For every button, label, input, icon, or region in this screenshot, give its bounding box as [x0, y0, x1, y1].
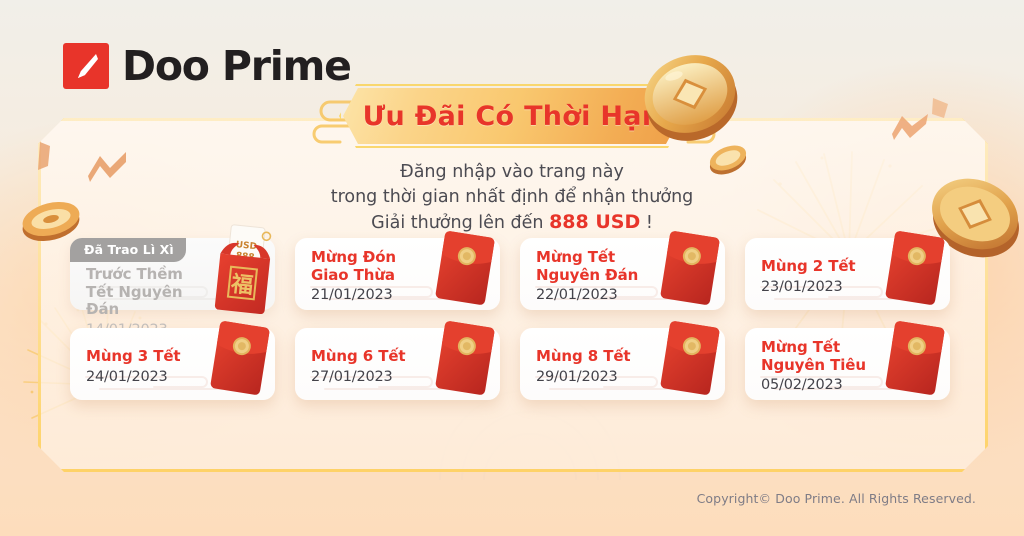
title-ribbon: Ưu Đãi Có Thời Hạn	[343, 88, 681, 144]
promo-card-title-line1: Mừng Tết	[761, 339, 886, 357]
promo-card-text: Mùng 3 Tết 24/01/2023	[86, 348, 211, 385]
promo-card[interactable]: Mùng 6 Tết 27/01/2023	[295, 328, 500, 400]
promo-card-row: Đã Trao Lì Xì Trước Thềm Tết Nguyên Đán …	[70, 238, 960, 310]
promo-card-date: 27/01/2023	[311, 369, 436, 385]
promo-card-title-line1: Mùng 6 Tết	[311, 348, 436, 366]
promo-banner: Doo Prime Ưu Đãi Có Thời Hạn	[0, 0, 1024, 536]
promo-card-title-line2: Giao Thừa	[311, 267, 436, 285]
promo-card-title-line1: Mùng 2 Tết	[761, 258, 886, 276]
promo-card-text: Mừng Đón Giao Thừa 21/01/2023	[311, 249, 436, 303]
promo-card[interactable]: Mừng Tết Nguyên Tiêu 05/02/2023	[745, 328, 950, 400]
brand-name: Doo Prime	[122, 42, 351, 90]
red-envelope-icon	[884, 318, 946, 398]
promo-card-claimed[interactable]: Đã Trao Lì Xì Trước Thềm Tết Nguyên Đán …	[70, 238, 275, 310]
promo-card[interactable]: Mùng 8 Tết 29/01/2023	[520, 328, 725, 400]
doo-prime-logo-mark	[63, 43, 109, 89]
promo-card-date: 24/01/2023	[86, 369, 211, 385]
promo-description: Đăng nhập vào trang này trong thời gian …	[0, 160, 1024, 236]
promo-card-title-line1: Mừng Đón	[311, 249, 436, 267]
red-envelope-icon	[434, 318, 496, 398]
promo-card-date: 22/01/2023	[536, 287, 661, 303]
promo-card[interactable]: Mừng Tết Nguyên Đán 22/01/2023	[520, 238, 725, 310]
page-title: Ưu Đãi Có Thời Hạn	[343, 88, 681, 144]
promo-card-date: 29/01/2023	[536, 369, 661, 385]
svg-text:福: 福	[229, 272, 255, 299]
promo-card-grid: Đã Trao Lì Xì Trước Thềm Tết Nguyên Đán …	[70, 238, 960, 400]
promo-card[interactable]: Mùng 2 Tết 23/01/2023	[745, 238, 950, 310]
red-envelope-icon	[434, 228, 496, 308]
copyright-text: Copyright© Doo Prime. All Rights Reserve…	[697, 491, 976, 506]
brand-logo[interactable]: Doo Prime	[63, 42, 351, 90]
promo-card-row: Mùng 3 Tết 24/01/2023	[70, 328, 960, 400]
promo-card-text: Mùng 6 Tết 27/01/2023	[311, 348, 436, 385]
prize-amount: 888 USD	[549, 211, 640, 233]
promo-card-date: 21/01/2023	[311, 287, 436, 303]
promo-card-title-line2: Nguyên Đán	[536, 267, 661, 285]
open-red-envelope-icon: USD 888 福	[207, 222, 279, 314]
promo-card-title-line1: Mừng Tết	[536, 249, 661, 267]
promo-card-text: Mừng Tết Nguyên Đán 22/01/2023	[536, 249, 661, 303]
promo-card-title-line2: Nguyên Tiêu	[761, 357, 886, 375]
promo-card-text: Trước Thềm Tết Nguyên Đán 14/01/2023	[86, 266, 211, 338]
description-line-2: trong thời gian nhất định để nhận thưởng	[0, 185, 1024, 210]
red-envelope-icon	[659, 318, 721, 398]
red-envelope-icon	[209, 318, 271, 398]
promo-card-date: 23/01/2023	[761, 279, 886, 295]
red-envelope-icon	[884, 228, 946, 308]
promo-card-text: Mùng 8 Tết 29/01/2023	[536, 348, 661, 385]
promo-card-title-line1: Trước Thềm	[86, 266, 211, 284]
description-line-3-suffix: !	[640, 213, 653, 233]
promo-card-text: Mùng 2 Tết 23/01/2023	[761, 258, 886, 295]
promo-card-text: Mừng Tết Nguyên Tiêu 05/02/2023	[761, 339, 886, 393]
red-envelope-icon	[659, 228, 721, 308]
promo-card-title-line1: Mùng 8 Tết	[536, 348, 661, 366]
status-badge: Đã Trao Lì Xì	[70, 238, 186, 262]
description-line-1: Đăng nhập vào trang này	[0, 160, 1024, 185]
promo-card-title-line1: Mùng 3 Tết	[86, 348, 211, 366]
promo-card-date: 05/02/2023	[761, 377, 886, 393]
promo-card[interactable]: Mừng Đón Giao Thừa 21/01/2023	[295, 238, 500, 310]
promo-card-title-line2: Tết Nguyên Đán	[86, 284, 211, 319]
description-line-3: Giải thưởng lên đến 888 USD !	[0, 210, 1024, 236]
promo-card[interactable]: Mùng 3 Tết 24/01/2023	[70, 328, 275, 400]
